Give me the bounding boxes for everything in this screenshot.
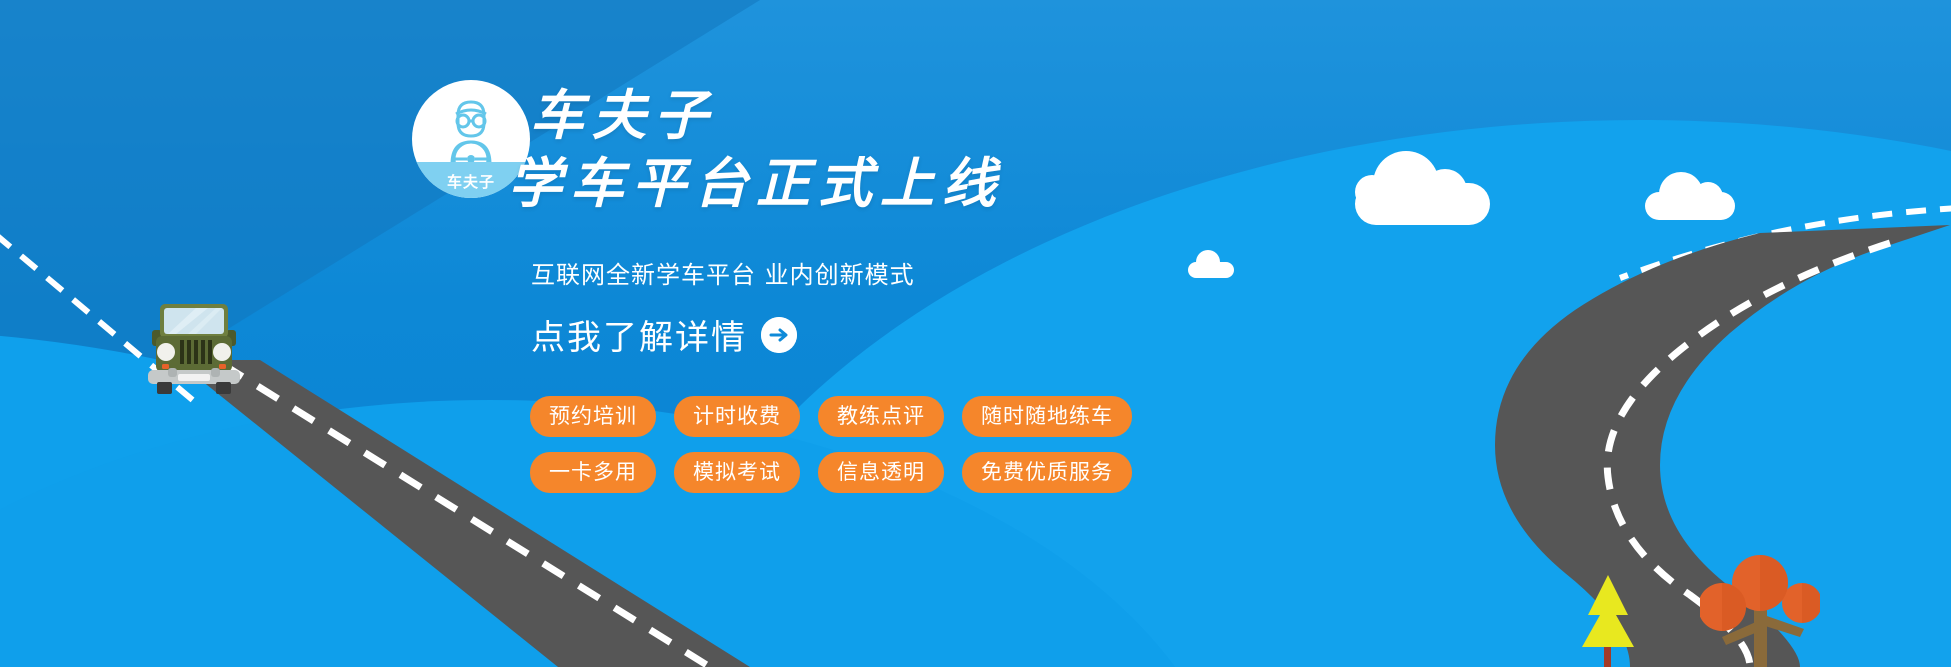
feature-tag-row-2: 一卡多用 模拟考试 信息透明 免费优质服务 bbox=[530, 452, 1170, 493]
feature-tag[interactable]: 教练点评 bbox=[818, 396, 944, 437]
headline: 车夫子 学车平台正式上线 bbox=[530, 88, 1004, 210]
feature-tag[interactable]: 随时随地练车 bbox=[962, 396, 1132, 437]
orange-round-tree-icon bbox=[1700, 545, 1820, 667]
feature-tag[interactable]: 免费优质服务 bbox=[962, 452, 1132, 493]
headline-line-2: 学车平台正式上线 bbox=[508, 156, 1004, 210]
feature-tag-row-1: 预约培训 计时收费 教练点评 随时随地练车 bbox=[530, 396, 1170, 437]
yellow-pine-tree-icon bbox=[1576, 573, 1640, 667]
feature-tag[interactable]: 信息透明 bbox=[818, 452, 944, 493]
road-right-winding bbox=[1330, 215, 1950, 667]
promo-banner: 车夫子 车夫子 学车平台正式上线 互联网全新学车平台 业内创新模式 点我了解详情… bbox=[0, 0, 1951, 667]
feature-tag[interactable]: 一卡多用 bbox=[530, 452, 656, 493]
subtitle: 互联网全新学车平台 业内创新模式 bbox=[531, 255, 915, 290]
feature-tags: 预约培训 计时收费 教练点评 随时随地练车 一卡多用 模拟考试 信息透明 免费优… bbox=[530, 396, 1170, 508]
cta-link[interactable]: 点我了解详情 bbox=[531, 310, 797, 359]
feature-tag[interactable]: 模拟考试 bbox=[674, 452, 800, 493]
headline-line-1: 车夫子 bbox=[530, 88, 1004, 142]
feature-tag[interactable]: 预约培训 bbox=[530, 396, 656, 437]
cta-label: 点我了解详情 bbox=[531, 310, 747, 359]
feature-tag[interactable]: 计时收费 bbox=[674, 396, 800, 437]
green-jeep-icon bbox=[138, 300, 250, 400]
arrow-right-circle-icon[interactable] bbox=[761, 317, 797, 353]
